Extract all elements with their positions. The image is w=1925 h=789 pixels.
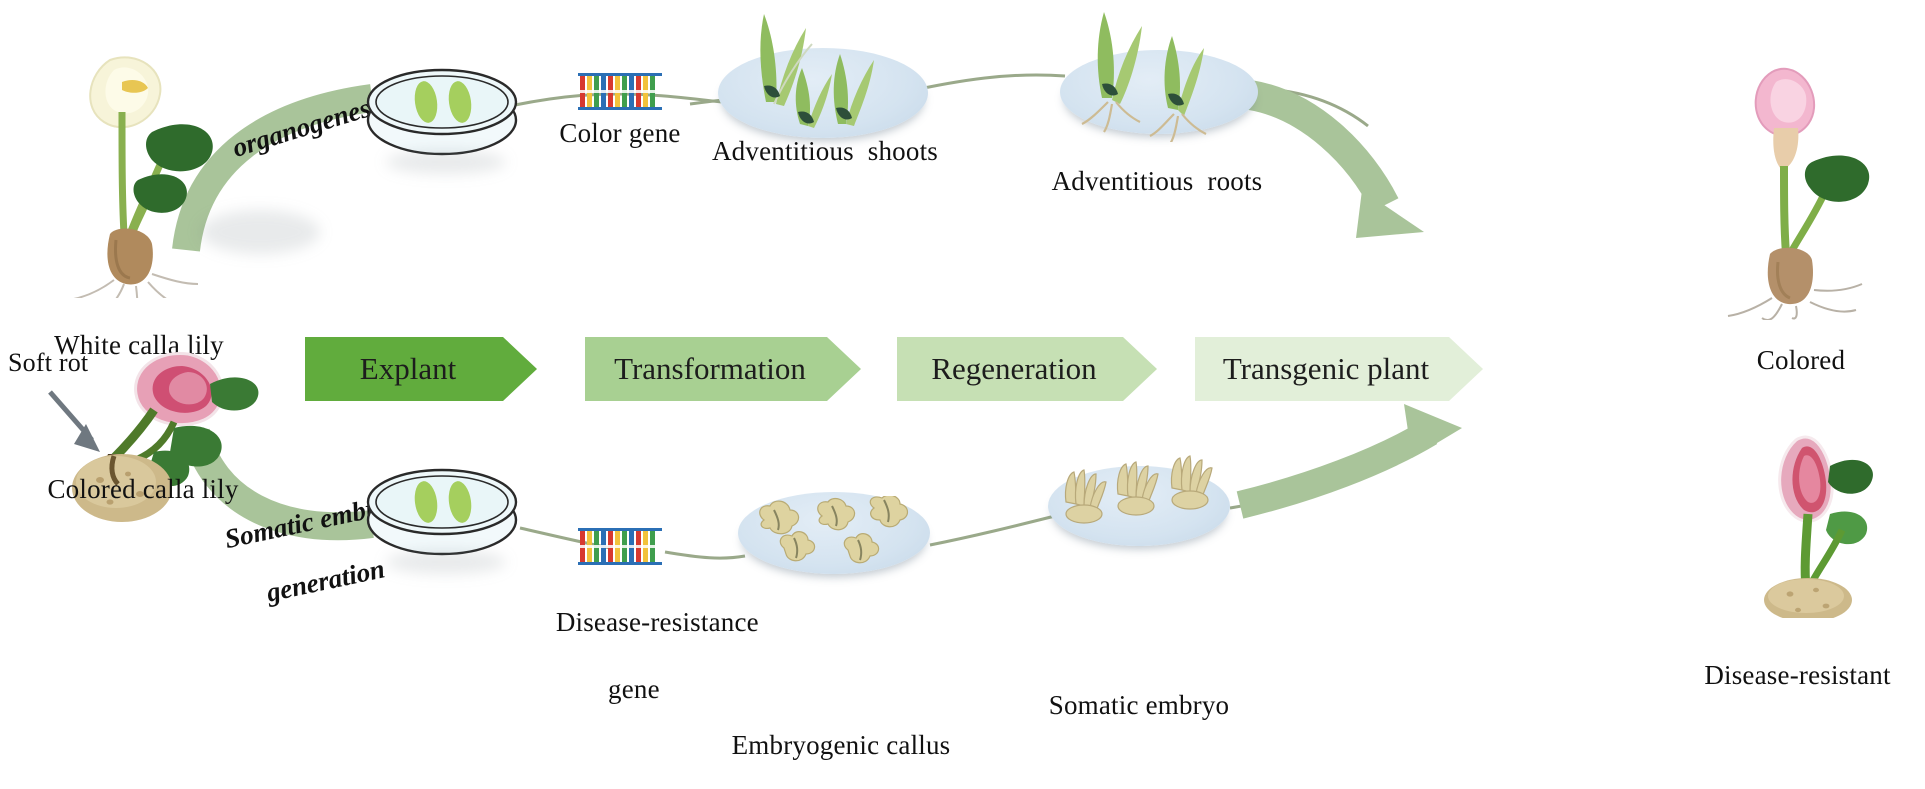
figure-canvas: White calla lily organogenesis [0,0,1925,789]
disease-resistant-plant [1756,418,1906,618]
gene-label-line1: Disease-resistance [556,607,759,637]
embryogenic-callus-art [748,496,924,572]
process-step-label: Transgenic plant [1223,351,1455,387]
process-step-label: Transformation [614,351,832,387]
process-arrow-bar: Explant Transformation Regeneration Tran… [305,337,1483,401]
somatic-embryo-label: Somatic embryo [1022,690,1256,721]
adventitious-shoots-art [730,6,916,134]
adventitious-roots-label: Adventitious roots [1022,166,1292,197]
somatic-embryo-art [1056,446,1228,546]
color-gene-label: Color gene [528,118,712,149]
adventitious-shoots-label: Adventitious shoots [700,136,950,167]
gene-label-line2: gene [608,674,660,704]
dish-shadow-bottom [386,550,506,574]
colored-label: Colored [1716,345,1886,376]
embryogenic-callus-label: Embryogenic callus [716,730,966,761]
dish-shadow [386,150,506,174]
disease-resistance-gene-icon [578,525,662,569]
bottom-petri-dish [364,462,520,558]
process-step-label: Explant [360,351,482,387]
adventitious-roots-art [1068,6,1258,142]
somatic-embryo-generation-line2: generation [264,553,388,607]
white-calla-lily-plant [52,48,242,298]
process-step-explant[interactable]: Explant [305,337,537,401]
color-gene-icon [578,70,662,114]
process-step-transformation[interactable]: Transformation [585,337,861,401]
disease-resistance-gene-label: Disease-resistance gene [528,572,712,741]
top-petri-dish [364,62,520,158]
bottom-result-arrow [1240,404,1462,505]
disease-resistant-label: Disease-resistant [1670,660,1925,691]
process-step-transgenic-plant[interactable]: Transgenic plant [1195,337,1483,401]
process-step-label: Regeneration [931,351,1122,387]
colored-calla-lily-plant [1716,58,1886,320]
process-step-regeneration[interactable]: Regeneration [897,337,1157,401]
plant-shadow [200,210,320,254]
